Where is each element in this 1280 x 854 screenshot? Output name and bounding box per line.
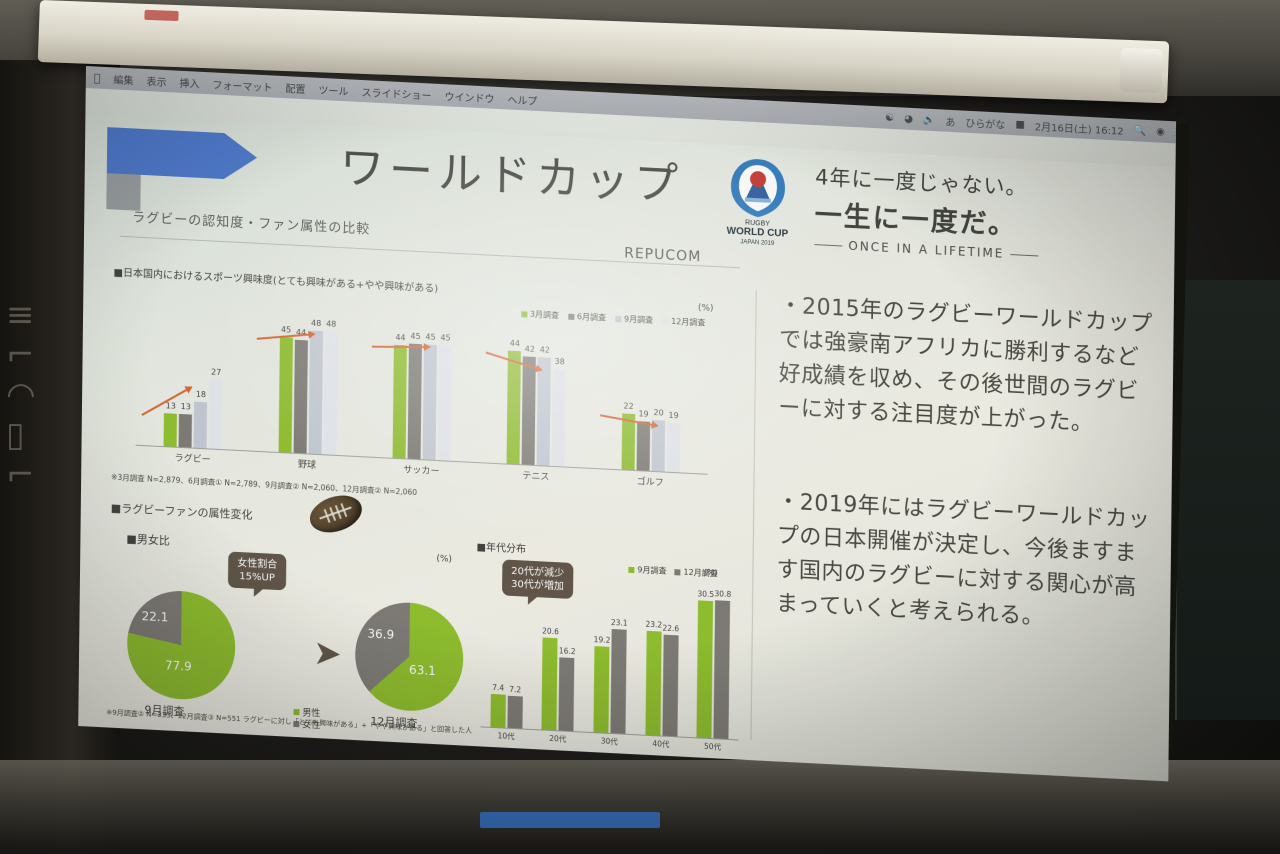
- bar-サッカー-3月調査: 44: [393, 345, 407, 458]
- age-bar-40代-12月調査: 22.6: [662, 634, 678, 736]
- apple-icon[interactable]: : [94, 71, 101, 84]
- x-label-野球: 野球: [250, 455, 365, 474]
- trend-arrow-ラグビー: [141, 386, 192, 416]
- wifi-icon[interactable]: ◕: [904, 113, 913, 124]
- age-bar-value-label: 20.6: [542, 626, 559, 636]
- legend-swatch-male: [293, 709, 299, 715]
- commentary-paragraph-1: ・2015年のラグビーワールドカップでは強豪南アフリカに勝利するなど好成績を収め…: [778, 289, 1156, 444]
- bar-value-label: 42: [540, 346, 550, 356]
- age-bar-group-50代: 30.530.8: [687, 589, 740, 740]
- roller-marker: [144, 10, 178, 21]
- bar-サッカー-6月調査: 45: [408, 343, 422, 459]
- bar-value-label: 45: [425, 332, 435, 342]
- age-x-label-20代: 20代: [532, 732, 584, 746]
- legend-item-march: 3月調査: [521, 308, 559, 321]
- legend-label-dec: 12月調査: [671, 316, 705, 329]
- chart3-legend: 9月調査 12月調査 (%): [628, 564, 717, 580]
- section2-unit: (%): [436, 554, 452, 565]
- rugby-ball-icon: [305, 489, 368, 539]
- callout-female-line2: 15%UP: [237, 570, 277, 585]
- desk-object: [480, 812, 660, 828]
- pie-december-female-value: 36.9: [367, 627, 394, 642]
- bar-野球-6月調査: 44: [293, 340, 307, 453]
- age-x-label-50代: 50代: [687, 740, 739, 754]
- bar-value-label: 38: [555, 357, 565, 367]
- legend-swatch-sept: [615, 316, 621, 322]
- roller-cap: [1119, 48, 1163, 94]
- legend-swatch-march: [521, 311, 527, 317]
- bar-value-label: 13: [166, 401, 176, 411]
- bar-テニス-12月調査: 38: [552, 369, 566, 467]
- legend-swatch-june: [568, 313, 574, 319]
- chart1-plot-area: 1313182745444848444545454442423822192019: [136, 317, 710, 474]
- age-bar-group-30代: 19.223.1: [584, 584, 637, 735]
- pie-chart-september: [127, 588, 236, 701]
- bar-value-label: 48: [311, 319, 321, 329]
- decorative-block-shape: [106, 173, 140, 211]
- bar-ラグビー-12月調査: 27: [209, 379, 223, 449]
- blackboard: [1175, 280, 1280, 720]
- pie-september-male-value: 77.9: [165, 658, 192, 673]
- legend-item-june: 6月調査: [568, 311, 606, 324]
- age-bar-group-20代: 20.616.2: [532, 581, 585, 732]
- bar-テニス-9月調査: 42: [537, 358, 551, 466]
- legend-label-march: 3月調査: [530, 309, 559, 321]
- legend-label-sept: 9月調査: [624, 313, 653, 325]
- bar-野球-3月調査: 45: [278, 337, 292, 453]
- legend-item-sept2: 9月調査: [628, 564, 666, 577]
- age-bar-10代-12月調査: 7.2: [507, 696, 522, 729]
- pie-chart-december: [355, 600, 464, 713]
- commentary-paragraph-2: ・2019年にはラグビーワールドカップの日本開催が決定し、今後ますます国内のラグ…: [776, 485, 1154, 640]
- legend-label-june: 6月調査: [577, 311, 606, 323]
- age-bar-value-label: 23.2: [645, 620, 662, 630]
- age-bar-20代-12月調査: 16.2: [559, 658, 575, 731]
- page-title: ワールドカップ: [340, 131, 684, 212]
- bluetooth-icon[interactable]: ☯: [885, 112, 894, 123]
- bar-group-ゴルフ: 22192019: [593, 340, 709, 474]
- x-label-ゴルフ: ゴルフ: [593, 472, 708, 491]
- bar-value-label: 27: [211, 367, 221, 377]
- age-bar-group-40代: 23.222.6: [635, 586, 688, 737]
- transition-arrow-icon: ➤: [313, 636, 347, 672]
- bar-value-label: 45: [440, 333, 450, 343]
- menu-item-slideshow[interactable]: スライドショー: [361, 84, 431, 103]
- legend-item-sept: 9月調査: [615, 313, 653, 326]
- bar-value-label: 45: [281, 325, 291, 335]
- age-bar-10代-9月調査: 7.4: [490, 694, 505, 728]
- menu-item-help[interactable]: ヘルプ: [507, 91, 537, 108]
- menu-item-arrange[interactable]: 配置: [285, 80, 305, 96]
- spotlight-icon[interactable]: ◉: [1156, 126, 1165, 137]
- menu-item-edit[interactable]: 編集: [113, 71, 133, 87]
- pie-september-female-value: 22.1: [141, 609, 168, 624]
- projection-screen:  編集 表示 挿入 フォーマット 配置 ツール スライドショー ウインドウ ヘ…: [78, 66, 1184, 794]
- bar-value-label: 42: [525, 345, 535, 355]
- tagline-line3: ONCE IN A LIFETIME: [848, 239, 1004, 261]
- menu-item-tools[interactable]: ツール: [318, 81, 348, 98]
- bar-value-label: 19: [668, 411, 678, 421]
- bar-ゴルフ-12月調査: 19: [666, 423, 680, 472]
- bar-value-label: 45: [410, 331, 420, 341]
- legend-swatch-dec: [662, 318, 668, 324]
- bar-テニス-6月調査: 42: [522, 357, 536, 465]
- bar-ゴルフ-6月調査: 19: [636, 422, 650, 471]
- age-x-label-30代: 30代: [583, 735, 635, 749]
- tagline-dash-left: [814, 244, 842, 246]
- bar-value-label: 13: [181, 402, 191, 412]
- decorative-arrow-shape: [107, 127, 258, 181]
- slide-canvas:  編集 表示 挿入 フォーマット 配置 ツール スライドショー ウインドウ ヘ…: [78, 66, 1176, 781]
- bar-group-野球: 45444848: [250, 323, 366, 457]
- age-bar-20代-9月調査: 20.6: [542, 637, 558, 730]
- bar-サッカー-9月調査: 45: [423, 344, 437, 460]
- bar-value-label: 44: [510, 339, 520, 349]
- bar-ラグビー-6月調査: 13: [179, 414, 192, 448]
- age-bar-group-10代: 7.47.2: [480, 578, 533, 729]
- bar-value-label: 19: [638, 410, 648, 420]
- bar-group-テニス: 44424238: [479, 334, 595, 468]
- age-bar-50代-9月調査: 30.5: [697, 601, 714, 739]
- callout-female-ratio: 女性割合 15%UP: [228, 552, 286, 591]
- bar-group-ラグビー: 13131827: [136, 317, 252, 451]
- rugby-world-cup-logo: RUGBY WORLD CUP JAPAN 2019: [714, 153, 801, 249]
- bar-value-label: 18: [196, 390, 206, 400]
- bar-テニス-3月調査: 44: [507, 351, 521, 464]
- menu-item-insert[interactable]: 挿入: [179, 74, 199, 90]
- section3-heading: ■年代分布: [476, 538, 526, 556]
- age-bar-value-label: 16.2: [559, 647, 576, 657]
- svg-text:WORLD CUP: WORLD CUP: [727, 226, 789, 240]
- bar-value-label: 22: [623, 401, 633, 411]
- legend-swatch-sept2: [628, 566, 634, 572]
- age-bar-30代-12月調査: 23.1: [610, 629, 626, 733]
- bar-value-label: 48: [326, 319, 336, 329]
- bar-group-サッカー: 44454545: [364, 328, 480, 462]
- age-bar-50代-12月調査: 30.8: [714, 600, 731, 739]
- chart1-legend: 3月調査 6月調査 9月調査 12月調査: [521, 308, 706, 328]
- age-bar-value-label: 19.2: [594, 635, 611, 645]
- campaign-tagline: 4年に一度じゃない。 一生に一度だ。 ONCE IN A LIFETIME: [814, 161, 1095, 265]
- battery-icon[interactable]: ■: [1015, 119, 1025, 130]
- bar-ラグビー-9月調査: 18: [194, 402, 208, 449]
- search-icon[interactable]: 🔍: [1134, 125, 1147, 137]
- x-label-テニス: テニス: [479, 466, 594, 485]
- volume-icon[interactable]: 🔊: [923, 114, 936, 126]
- age-bar-value-label: 30.5: [697, 590, 714, 600]
- input-source-indicator[interactable]: あ: [945, 113, 955, 129]
- bar-value-label: 44: [395, 333, 405, 343]
- bar-サッカー-12月調査: 45: [438, 345, 452, 461]
- legend-label-sept2: 9月調査: [637, 564, 666, 576]
- age-bar-40代-9月調査: 23.2: [645, 631, 661, 736]
- x-label-ラグビー: ラグビー: [135, 449, 250, 468]
- bar-野球-9月調査: 48: [308, 331, 322, 455]
- age-bar-value-label: 7.4: [492, 683, 504, 693]
- menu-item-format[interactable]: フォーマット: [212, 76, 272, 94]
- chart3-plot-area: 7.47.220.616.219.223.123.222.630.530.8: [480, 578, 740, 739]
- slide-subtitle: ラグビーの認知度・ファン属性の比較: [132, 206, 370, 237]
- section2-heading: ■ラグビーファンの属性変化: [111, 500, 253, 523]
- legend-swatch-dec2: [674, 569, 680, 575]
- age-distribution-bar-chart: 9月調査 12月調査 (%) 7.47.220.616.219.223.123.…: [474, 556, 746, 760]
- age-bar-value-label: 22.6: [662, 623, 679, 633]
- section2-subheading: ■男女比: [126, 530, 170, 548]
- age-bar-value-label: 23.1: [611, 618, 628, 628]
- x-label-サッカー: サッカー: [364, 460, 479, 479]
- age-x-label-40代: 40代: [635, 737, 687, 751]
- tagline-dash-right: [1010, 254, 1038, 256]
- bar-ラグビー-3月調査: 13: [164, 413, 177, 447]
- age-bar-30代-9月調査: 19.2: [593, 646, 609, 733]
- bar-value-label: 20: [653, 408, 663, 418]
- legend-item-dec: 12月調査: [662, 315, 705, 328]
- age-bar-value-label: 7.2: [509, 685, 521, 695]
- pie-december-male-value: 63.1: [409, 663, 436, 678]
- wall-decoration: ≡⌐◠▯⌐: [6, 295, 66, 625]
- age-x-label-10代: 10代: [480, 729, 532, 743]
- menubar-clock[interactable]: 2月16日(土) 16:12: [1035, 118, 1124, 138]
- svg-text:JAPAN 2019: JAPAN 2019: [740, 239, 775, 247]
- chart3-unit: (%): [704, 568, 718, 578]
- chart1-unit: (%): [698, 303, 714, 314]
- content-divider: [750, 290, 756, 740]
- sports-interest-bar-chart: (%) 3月調査 6月調査 9月調査 12月調査 131318274544484…: [117, 286, 719, 506]
- menu-item-view[interactable]: 表示: [146, 73, 166, 89]
- age-bar-value-label: 30.8: [714, 589, 731, 599]
- input-mode-label[interactable]: ひらがな: [965, 114, 1005, 131]
- notification-icon[interactable]: ☰: [1175, 127, 1176, 138]
- menu-item-window[interactable]: ウインドウ: [444, 88, 494, 106]
- bar-野球-12月調査: 48: [323, 331, 337, 455]
